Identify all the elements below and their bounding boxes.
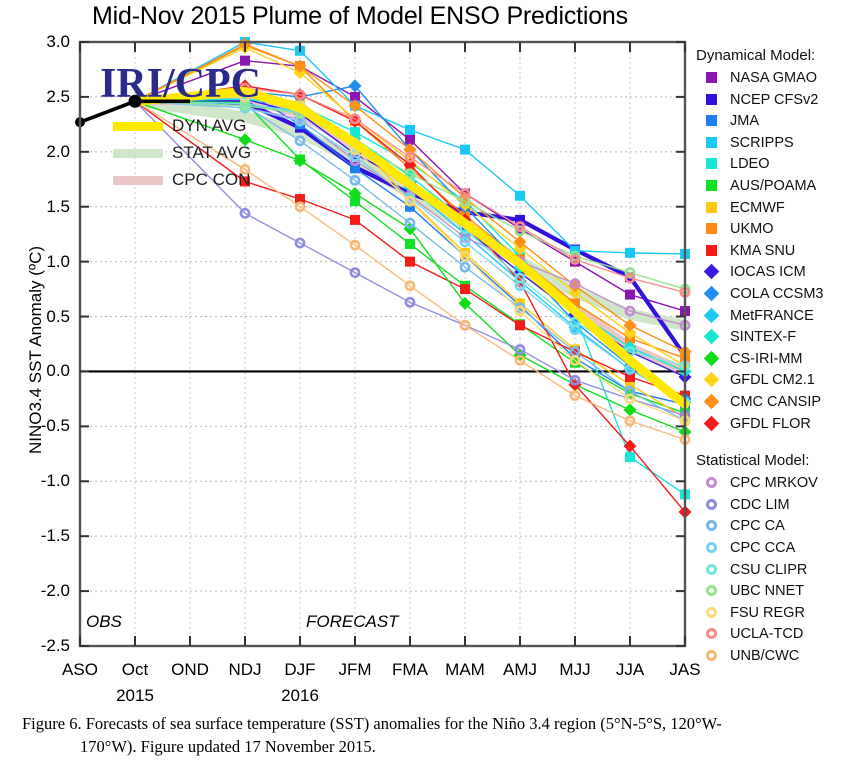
axis-year-label: 2016 bbox=[270, 686, 330, 706]
marker-cs-iri-mm bbox=[623, 403, 636, 416]
x-tick-label: JAS bbox=[655, 660, 715, 680]
legend-marker-circle-icon bbox=[706, 650, 717, 661]
legend-marker-square-icon bbox=[706, 245, 717, 256]
legend-label: KMA SNU bbox=[730, 243, 795, 259]
iri-cpc-logo: IRI/CPC bbox=[100, 60, 261, 108]
legend-label: SINTEX-F bbox=[730, 329, 796, 345]
y-tick-label: -2.5 bbox=[18, 636, 70, 656]
legend-label: UCLA-TCD bbox=[730, 626, 803, 642]
legend-marker-square-icon bbox=[706, 115, 717, 126]
marker-scripps bbox=[460, 145, 470, 155]
legend-marker-circle-icon bbox=[706, 564, 717, 575]
y-tick-label: -0.5 bbox=[18, 416, 70, 436]
axis-year-label: 2015 bbox=[105, 686, 165, 706]
legend-marker-square-icon bbox=[706, 94, 717, 105]
inplot-legend-swatch-cpc-con bbox=[113, 176, 163, 185]
legend-label: CSU CLIPR bbox=[730, 562, 807, 578]
y-axis-label: NINO3.4 SST Anomaly (ºC) bbox=[26, 200, 46, 500]
legend-label: CPC CA bbox=[730, 518, 785, 534]
legend-label: CDC LIM bbox=[730, 497, 790, 513]
y-tick-label: 3.0 bbox=[18, 32, 70, 52]
inplot-legend-label-stat-avg: STAT AVG bbox=[172, 143, 251, 163]
y-tick-label: -1.0 bbox=[18, 471, 70, 491]
x-tick-label: JJA bbox=[600, 660, 660, 680]
marker-scripps bbox=[515, 191, 525, 201]
x-tick-label: MJJ bbox=[545, 660, 605, 680]
y-tick-label: 2.0 bbox=[18, 142, 70, 162]
figure-caption: Figure 6. Forecasts of sea surface tempe… bbox=[0, 712, 842, 759]
inplot-legend-swatch-stat-avg bbox=[113, 149, 163, 158]
x-tick-label: OND bbox=[160, 660, 220, 680]
x-tick-label: Oct bbox=[105, 660, 165, 680]
y-tick-label: -1.5 bbox=[18, 526, 70, 546]
legend-marker-square-icon bbox=[706, 158, 717, 169]
legend-marker-circle-icon bbox=[706, 607, 717, 618]
legend-label: UKMO bbox=[730, 221, 774, 237]
y-tick-label: 2.5 bbox=[18, 87, 70, 107]
legend-label: UNB/CWC bbox=[730, 648, 799, 664]
legend-label: CPC MRKOV bbox=[730, 475, 818, 491]
legend-header-statistical: Statistical Model: bbox=[696, 452, 809, 469]
marker-ldeo bbox=[625, 452, 635, 462]
legend-marker-square-icon bbox=[706, 72, 717, 83]
legend-header-dynamical: Dynamical Model: bbox=[696, 47, 815, 64]
marker-nasa-gmao bbox=[625, 290, 635, 300]
legend-marker-square-icon bbox=[706, 202, 717, 213]
x-tick-label: DJF bbox=[270, 660, 330, 680]
plot-area-wrapper: IRI/CPC NINO3.4 SST Anomaly (ºC) 3.02.52… bbox=[0, 0, 842, 700]
marker-kma-snu bbox=[405, 257, 415, 267]
legend-label: CPC CCA bbox=[730, 540, 795, 556]
marker-scripps bbox=[405, 125, 415, 135]
y-tick-label: 1.0 bbox=[18, 252, 70, 272]
y-tick-label: 0.5 bbox=[18, 307, 70, 327]
x-tick-label: MAM bbox=[435, 660, 495, 680]
legend-label: SCRIPPS bbox=[730, 135, 794, 151]
legend-label: LDEO bbox=[730, 156, 770, 172]
legend-label: CMC CANSIP bbox=[730, 394, 821, 410]
legend-label: FSU REGR bbox=[730, 605, 805, 621]
phase-label: FORECAST bbox=[306, 612, 399, 632]
caption-line-2: 170°W). Figure updated 17 November 2015. bbox=[0, 735, 842, 758]
inplot-legend-label-cpc-con: CPC CON bbox=[172, 170, 250, 190]
x-tick-label: NDJ bbox=[215, 660, 275, 680]
legend-marker-circle-icon bbox=[706, 499, 717, 510]
y-tick-label: 1.5 bbox=[18, 197, 70, 217]
legend-label: CS-IRI-MM bbox=[730, 351, 803, 367]
x-tick-label: AMJ bbox=[490, 660, 550, 680]
legend-label: ECMWF bbox=[730, 200, 785, 216]
marker-scripps bbox=[625, 248, 635, 258]
legend-label: UBC NNET bbox=[730, 583, 804, 599]
legend-label: MetFRANCE bbox=[730, 308, 814, 324]
legend-marker-square-icon bbox=[706, 223, 717, 234]
enso-plume-figure: Mid-Nov 2015 Plume of Model ENSO Predict… bbox=[0, 0, 842, 784]
legend-marker-square-icon bbox=[706, 137, 717, 148]
inplot-legend-swatch-dyn-avg bbox=[113, 122, 163, 131]
legend-marker-circle-icon bbox=[706, 542, 717, 553]
legend-label: GFDL FLOR bbox=[730, 416, 811, 432]
marker-kma-snu bbox=[515, 320, 525, 330]
legend-label: NCEP CFSv2 bbox=[730, 92, 818, 108]
phase-label: OBS bbox=[86, 612, 122, 632]
y-tick-label: 0.0 bbox=[18, 361, 70, 381]
legend-label: AUS/POAMA bbox=[730, 178, 816, 194]
legend-marker-square-icon bbox=[706, 180, 717, 191]
caption-line-1: Figure 6. Forecasts of sea surface tempe… bbox=[0, 712, 842, 735]
legend-label: GFDL CM2.1 bbox=[730, 372, 815, 388]
legend-label: COLA CCSM3 bbox=[730, 286, 823, 302]
legend-label: IOCAS ICM bbox=[730, 264, 806, 280]
x-tick-label: FMA bbox=[380, 660, 440, 680]
legend-label: NASA GMAO bbox=[730, 70, 817, 86]
x-tick-label: JFM bbox=[325, 660, 385, 680]
inplot-legend-label-dyn-avg: DYN AVG bbox=[172, 116, 246, 136]
marker-kma-snu bbox=[350, 215, 360, 225]
marker-kma-snu bbox=[460, 284, 470, 294]
marker-aus-poama bbox=[405, 239, 415, 249]
x-tick-label: ASO bbox=[50, 660, 110, 680]
y-tick-label: -2.0 bbox=[18, 581, 70, 601]
legend-label: JMA bbox=[730, 113, 759, 129]
